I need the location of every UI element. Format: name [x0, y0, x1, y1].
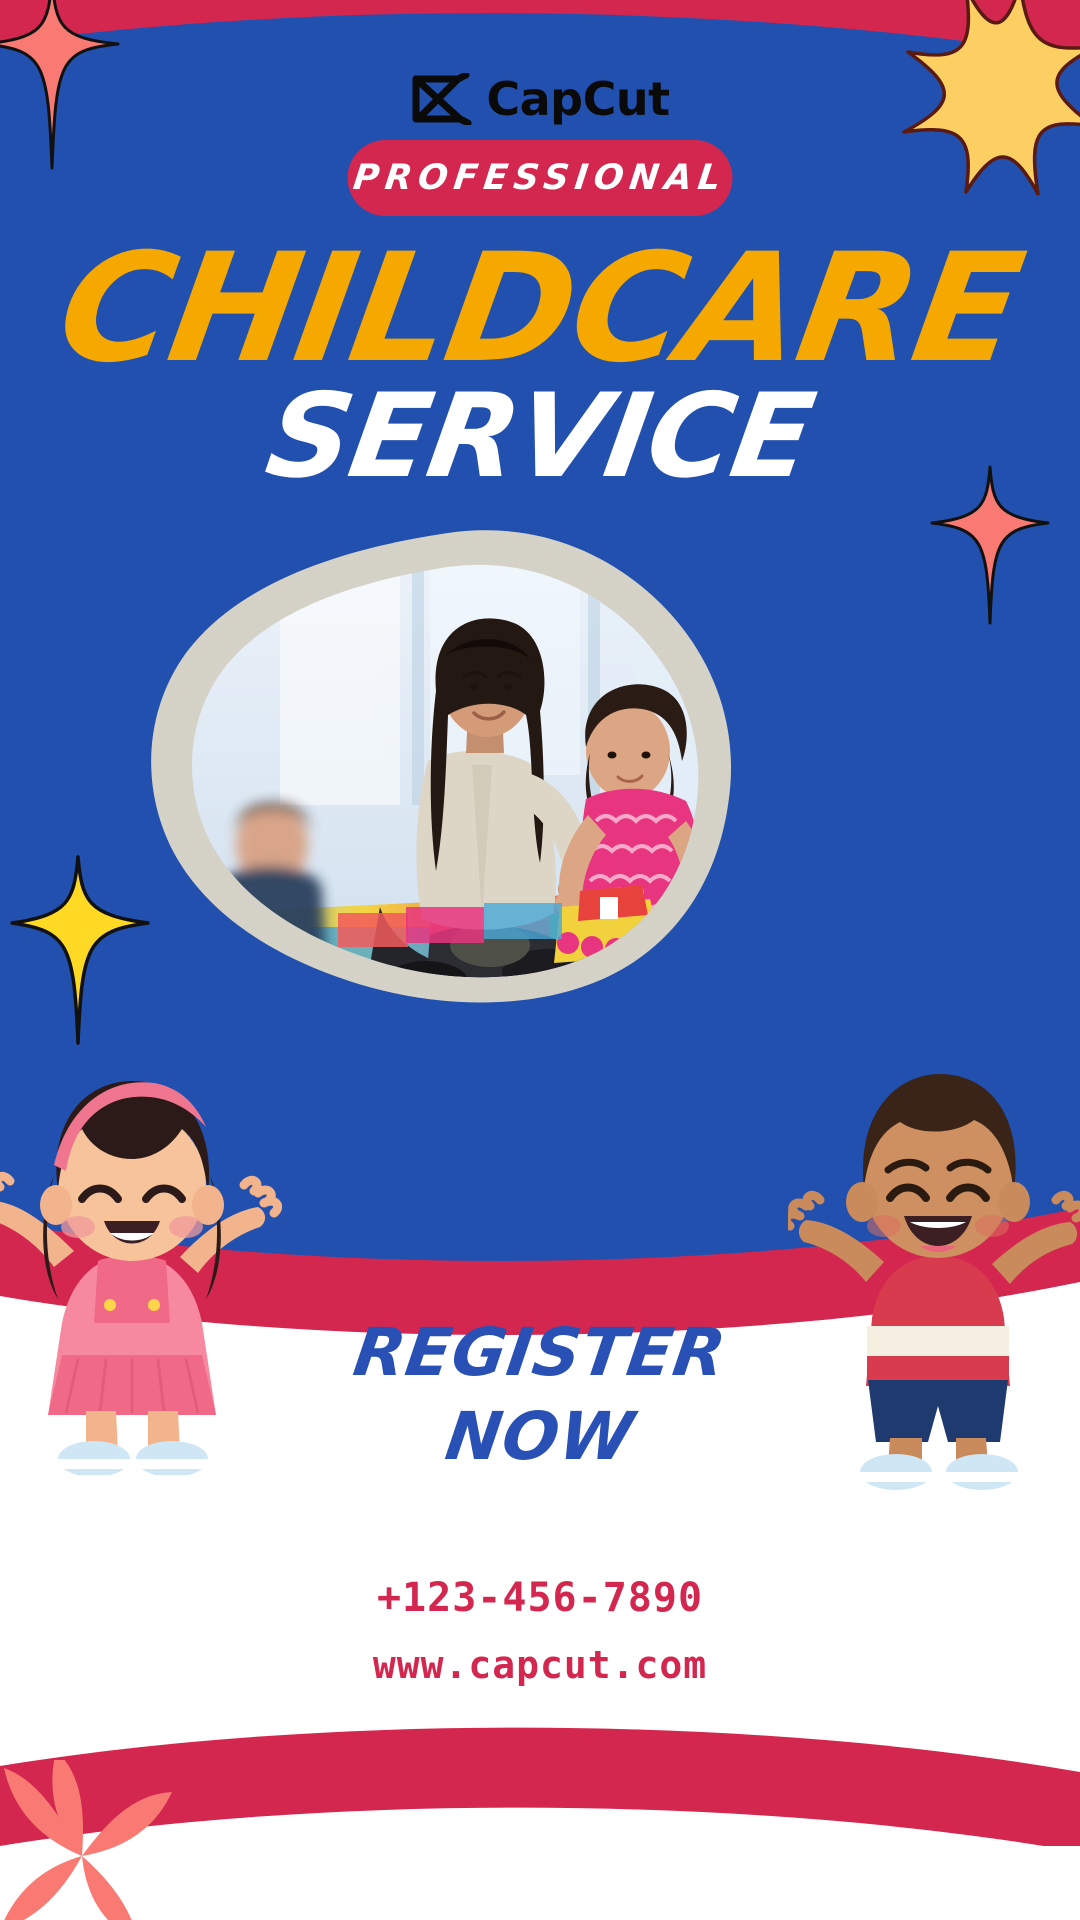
capcut-wordmark: CapCut: [486, 76, 669, 122]
cta-block: REGISTER NOW: [0, 1320, 1080, 1470]
hero-photo: [130, 515, 750, 1015]
yellow-sparkle-left-icon: [10, 855, 150, 1045]
headline-line-childcare: CHILDCARE: [0, 240, 1080, 378]
cta-line-now[interactable]: NOW: [0, 1404, 1080, 1470]
coral-flower-bottom-left-icon: [0, 1760, 175, 1920]
cta-line-register[interactable]: REGISTER: [0, 1320, 1080, 1386]
contact-website[interactable]: www.capcut.com: [0, 1643, 1080, 1687]
capcut-logo: CapCut: [0, 68, 1080, 130]
contact-phone[interactable]: +123-456-7890: [0, 1575, 1080, 1621]
headline: CHILDCARE SERVICE: [0, 240, 1080, 492]
capcut-hourglass-icon: [410, 73, 472, 125]
poster-canvas: CapCut PROFESSIONAL CHILDCARE SERVICE: [0, 0, 1080, 1920]
professional-badge: PROFESSIONAL: [348, 140, 733, 216]
headline-line-service: SERVICE: [0, 382, 1080, 492]
professional-badge-label: PROFESSIONAL: [351, 158, 729, 198]
contact-block: +123-456-7890 www.capcut.com: [0, 1575, 1080, 1687]
